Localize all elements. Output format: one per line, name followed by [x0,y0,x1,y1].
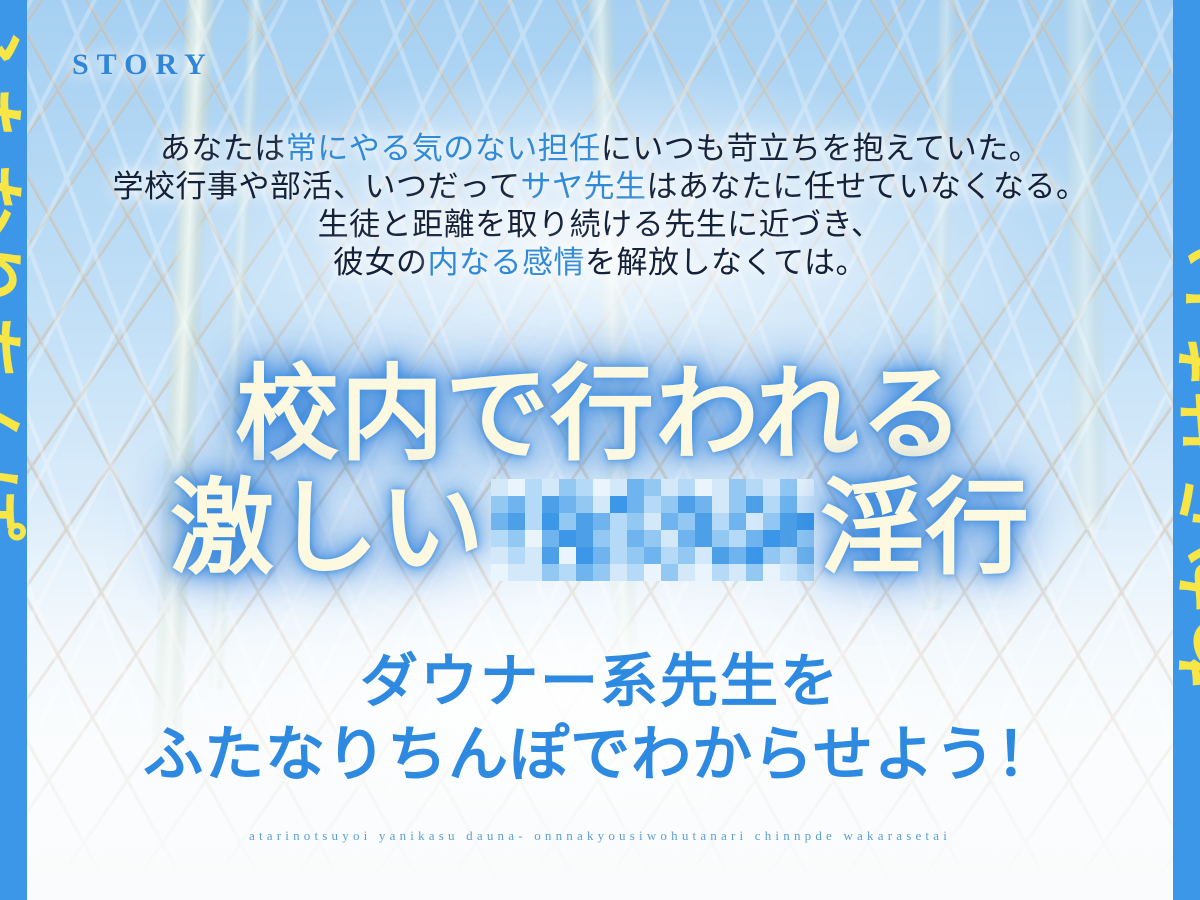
section-label: STORY [72,48,214,82]
mosaic-cell [508,564,525,581]
mosaic-cell [576,564,593,581]
mosaic-cell [661,513,678,530]
mosaic-cell [695,479,712,496]
mosaic-cell [593,479,610,496]
mosaic-cell [712,564,729,581]
mosaic-cell [780,496,797,513]
story-line: あなたは常にやる気のない担任にいつも苛立ちを抱えていた。 [0,130,1200,168]
mosaic-cell [559,513,576,530]
mosaic-cell [576,513,593,530]
mosaic-cell [678,479,695,496]
mosaic-cell [491,479,508,496]
mosaic-cell [576,547,593,564]
mosaic-cell [627,496,644,513]
mosaic-cell [746,547,763,564]
mosaic-cell [610,547,627,564]
mosaic-cell [644,530,661,547]
mosaic-cell [763,479,780,496]
mosaic-cell [780,547,797,564]
mosaic-cell [797,496,814,513]
mosaic-cell [610,513,627,530]
mosaic-cell [593,530,610,547]
story-line: 彼女の内なる感情を解放しなくては。 [0,244,1200,282]
mosaic-cell [508,530,525,547]
mosaic-cell [644,513,661,530]
mosaic-cell [661,530,678,547]
mosaic-cell [678,564,695,581]
mosaic-cell [780,564,797,581]
mosaic-cell [678,547,695,564]
mosaic-cell [559,547,576,564]
story-line: 生徒と距離を取り続ける先生に近づき、 [0,206,1200,244]
mosaic-cell [729,496,746,513]
mosaic-cell [746,564,763,581]
story-run: 彼女の [333,245,428,280]
story-line: 学校行事や部活、いつだってサヤ先生はあなたに任せていなくなる。 [0,168,1200,206]
story-highlight-run: 内なる感情 [428,245,586,280]
mosaic-cell [491,530,508,547]
mosaic-cell [593,547,610,564]
mosaic-cell [627,530,644,547]
mosaic-cell [729,564,746,581]
mosaic-cell [491,564,508,581]
mosaic-cell [644,564,661,581]
mosaic-cell [644,496,661,513]
headline-line-2: 激しい 淫行 [0,476,1200,584]
headline-line-2-prefix: 激しい [170,476,485,584]
mosaic-cell [508,513,525,530]
mosaic-cell [695,564,712,581]
mosaic-cell [644,479,661,496]
mosaic-cell [712,530,729,547]
mosaic-cell [746,513,763,530]
mosaic-cell [627,513,644,530]
mosaic-cell [695,496,712,513]
headline-line-1: 校内で行われる [0,362,1200,470]
mosaic-cell [610,479,627,496]
story-run: 学校行事や部活、いつだって [113,169,521,204]
mosaic-cell [695,513,712,530]
story-banner: ふたなりちんぽ わからせたい STORY あなたは常にやる気のない担任にいつも苛… [0,0,1200,900]
mosaic-cell [491,547,508,564]
mosaic-cell [610,530,627,547]
mosaic-cell [797,479,814,496]
story-highlight-run: サヤ先生 [520,169,646,204]
mosaic-cell [525,513,542,530]
subheadline-line-2: ふたなりちんぽでわからせよう！ [0,718,1200,792]
mosaic-cell [729,479,746,496]
subheadline-line-1: ダウナー系先生を [0,645,1200,719]
mosaic-cell [627,547,644,564]
mosaic-cell [729,530,746,547]
mosaic-cell [559,496,576,513]
mosaic-cell [610,564,627,581]
mosaic-cell [678,530,695,547]
mosaic-cell [763,496,780,513]
mosaic-cell [644,547,661,564]
story-run: を解放しなくては。 [585,245,867,280]
mosaic-cell [678,513,695,530]
mosaic-cell [661,547,678,564]
mosaic-cell [627,479,644,496]
mosaic-cell [508,547,525,564]
mosaic-censor-block [491,479,814,581]
story-run: はあなたに任せていなくなる。 [646,169,1087,204]
mosaic-cell [525,496,542,513]
mosaic-cell [797,513,814,530]
mosaic-cell [780,513,797,530]
mosaic-cell [712,479,729,496]
mosaic-cell [593,496,610,513]
mosaic-cell [525,564,542,581]
mosaic-cell [525,547,542,564]
mosaic-cell [576,530,593,547]
story-highlight-run: 常にやる気のない担任 [286,131,601,166]
mosaic-cell [763,513,780,530]
mosaic-cell [678,496,695,513]
mosaic-cell [559,479,576,496]
mosaic-cell [508,496,525,513]
mosaic-cell [661,564,678,581]
mosaic-cell [746,479,763,496]
mosaic-cell [525,479,542,496]
mosaic-cell [763,564,780,581]
mosaic-cell [525,530,542,547]
mosaic-cell [729,513,746,530]
mosaic-cell [729,547,746,564]
mosaic-cell [797,530,814,547]
mosaic-cell [780,479,797,496]
story-run: 生徒と距離を取り続ける先生に近づき、 [318,207,883,242]
mosaic-cell [559,530,576,547]
mosaic-cell [695,530,712,547]
mosaic-cell [627,564,644,581]
mosaic-cell [576,496,593,513]
mosaic-cell [746,496,763,513]
mosaic-cell [491,496,508,513]
mosaic-cell [763,530,780,547]
mosaic-cell [661,479,678,496]
mosaic-cell [780,530,797,547]
mosaic-cell [593,564,610,581]
story-paragraph: あなたは常にやる気のない担任にいつも苛立ちを抱えていた。学校行事や部活、いつだっ… [0,130,1200,282]
mosaic-cell [661,496,678,513]
mosaic-cell [491,513,508,530]
mosaic-cell [797,564,814,581]
romaji-transliteration: atarinotsuyoi yanikasu dauna- onnnakyous… [0,828,1200,844]
mosaic-cell [712,513,729,530]
mosaic-cell [542,564,559,581]
mosaic-cell [542,496,559,513]
mosaic-cell [695,547,712,564]
mosaic-cell [542,479,559,496]
mosaic-cell [576,479,593,496]
mosaic-cell [712,547,729,564]
mosaic-cell [797,547,814,564]
mosaic-cell [542,547,559,564]
story-run: にいつも苛立ちを抱えていた。 [601,131,1040,166]
mosaic-cell [559,564,576,581]
mosaic-cell [746,530,763,547]
mosaic-cell [593,513,610,530]
story-run: あなたは [160,131,286,166]
mosaic-cell [610,496,627,513]
mosaic-cell [542,530,559,547]
mosaic-cell [542,513,559,530]
mosaic-cell [712,496,729,513]
headline-line-2-suffix: 淫行 [820,476,1030,584]
mosaic-cell [508,479,525,496]
mosaic-cell [763,547,780,564]
